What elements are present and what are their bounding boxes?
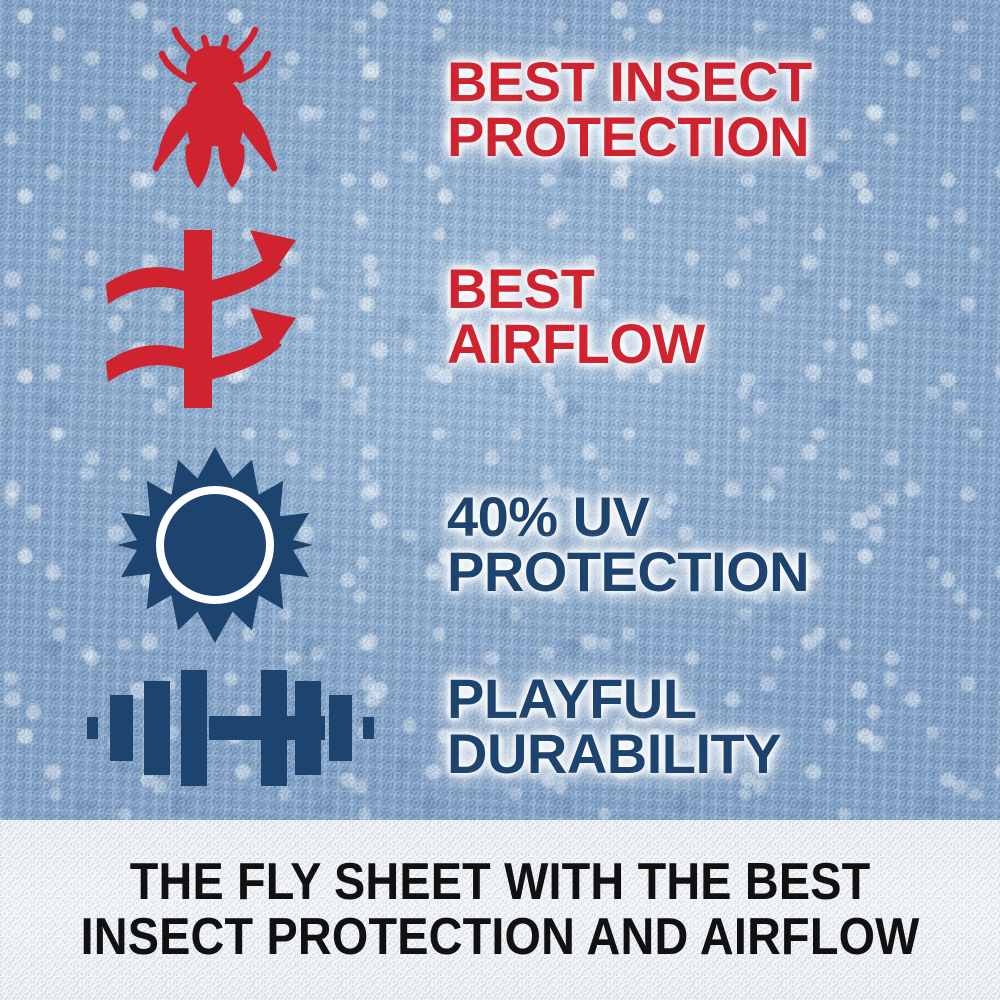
feature-row-durability: PLAYFUL DURABILITY [0,652,1000,802]
feature-label-airflow: BEST AIRFLOW [447,262,1000,372]
feature-row-airflow: BEST AIRFLOW [0,222,1000,412]
label-cell-uv-protection: 40% UV PROTECTION [430,490,1000,600]
icon-cell-fly [0,22,430,198]
feature-label-insect-protection: BEST INSECT PROTECTION [447,55,1000,165]
icon-cell-airflow [0,222,430,412]
icon-cell-sun [0,447,430,643]
fly-icon [140,22,290,198]
feature-row-insect-protection: BEST INSECT PROTECTION [0,20,1000,200]
icon-cell-dumbbell [0,667,430,787]
airflow-through-barrier-icon [100,222,330,412]
feature-label-durability: PLAYFUL DURABILITY [447,672,1000,782]
feature-row-uv-protection: 40% UV PROTECTION [0,442,1000,647]
sun-uv-icon [111,447,319,643]
label-cell-insect-protection: BEST INSECT PROTECTION [430,55,1000,165]
caption-text: THE FLY SHEET WITH THE BEST INSECT PROTE… [81,855,920,964]
label-cell-durability: PLAYFUL DURABILITY [430,672,1000,782]
dumbbell-icon [87,667,343,787]
caption-panel: THE FLY SHEET WITH THE BEST INSECT PROTE… [0,820,1000,1000]
feature-infographic: BEST INSECT PROTECTION [0,0,1000,1000]
label-cell-airflow: BEST AIRFLOW [430,262,1000,372]
feature-label-uv-protection: 40% UV PROTECTION [447,490,1000,600]
